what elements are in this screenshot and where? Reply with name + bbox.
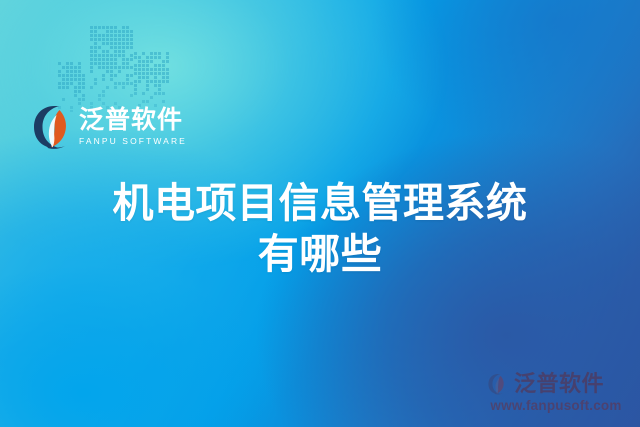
brand-name-cn: 泛普软件 xyxy=(79,108,187,133)
page-title-line-2: 有哪些 xyxy=(0,229,640,280)
brand-name-en: FANPU SOFTWARE xyxy=(79,137,187,146)
background-shade-top-right xyxy=(371,0,640,154)
watermark-logo: 泛普软件 xyxy=(484,373,628,395)
fanpu-logo-icon xyxy=(32,104,72,150)
poster-canvas: 泛普软件 FANPU SOFTWARE 机电项目信息管理系统 有哪些 泛普软件 … xyxy=(0,0,640,427)
watermark-name-cn: 泛普软件 xyxy=(514,373,604,395)
watermark-url: www.fanpusoft.com xyxy=(484,398,628,413)
page-title: 机电项目信息管理系统 有哪些 xyxy=(0,178,640,280)
page-title-line-1: 机电项目信息管理系统 xyxy=(0,178,640,229)
pixel-skyline-icon xyxy=(56,24,172,112)
fanpu-watermark-logo-icon xyxy=(484,373,510,395)
brand-text: 泛普软件 FANPU SOFTWARE xyxy=(79,108,187,146)
background-glow-bottom-left xyxy=(0,265,282,427)
brand-logo: 泛普软件 FANPU SOFTWARE xyxy=(32,104,187,150)
watermark: 泛普软件 www.fanpusoft.com xyxy=(484,373,628,413)
